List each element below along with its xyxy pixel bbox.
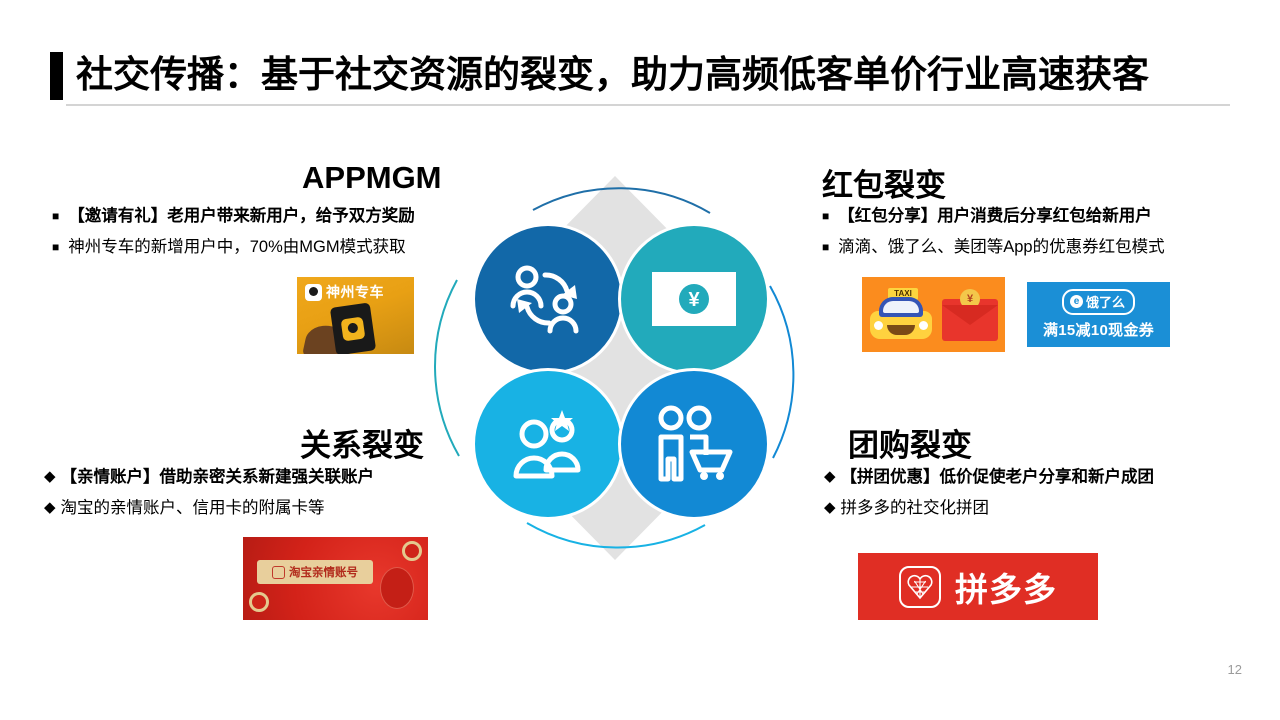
svg-text:¥: ¥: [688, 289, 700, 311]
eleme-logo: e 饿了么: [1062, 289, 1135, 315]
taobao-mark-icon: [272, 566, 285, 579]
list-item: ■ 【邀请有礼】老用户带来新用户，给予双方奖励: [52, 205, 415, 227]
bullet-text: 淘宝的亲情账户、信用卡的附属卡等: [61, 497, 325, 519]
eleme-mark-icon: e: [1070, 295, 1083, 308]
bullet-text: 【拼团优惠】低价促使老户分享和新户成团: [841, 466, 1155, 488]
diamond-bullet-icon: ◆: [44, 497, 56, 519]
diagram-circle-groupbuy[interactable]: [618, 368, 770, 520]
slide-canvas: 社交传播：基于社交资源的裂变，助力高频低客单价行业高速获客 APPMGM ■ 【…: [0, 0, 1280, 720]
square-bullet-icon: ■: [822, 236, 829, 258]
slide-title-block: 社交传播：基于社交资源的裂变，助力高频低客单价行业高速获客: [50, 50, 1230, 108]
bullet-text: 【亲情账户】借助亲密关系新建强关联账户: [61, 466, 375, 488]
taobao-plaque: 淘宝亲情账号: [257, 560, 373, 584]
pinduoduo-mark-icon: [899, 566, 941, 608]
taxi-headlight-right: [919, 321, 928, 330]
bullet-text: 【邀请有礼】老用户带来新用户，给予双方奖励: [68, 205, 415, 227]
quadrant-heading-tuangou: 团购裂变: [848, 420, 972, 465]
taxi-headlight-left: [874, 321, 883, 330]
diagram-background: [415, 168, 815, 568]
ucar-mark-icon: [305, 284, 322, 301]
diamond-bullet-icon: ◆: [44, 466, 56, 488]
bullet-text: 拼多多的社交化拼团: [841, 497, 990, 519]
envelope-flap: [942, 305, 998, 325]
arc-right: [770, 286, 793, 458]
diagram-circle-relation[interactable]: [472, 368, 624, 520]
four-circle-diagram: ¥: [415, 168, 815, 568]
lantern-icon: [380, 567, 414, 609]
decorative-coin-icon: [402, 541, 422, 561]
square-bullet-icon: ■: [822, 205, 829, 227]
bullet-text: 【红包分享】用户消费后分享红包给新用户: [838, 205, 1152, 227]
quadrant-bullets-appmgm: ■ 【邀请有礼】老用户带来新用户，给予双方奖励 ■ 神州专车的新增用户中，70%…: [52, 205, 415, 267]
quadrant-bullets-guanxi: ◆ 【亲情账户】借助亲密关系新建强关联账户 ◆ 淘宝的亲情账户、信用卡的附属卡等: [44, 466, 374, 528]
page-number: 12: [1228, 662, 1242, 677]
quadrant-heading-hongbao: 红包裂变: [822, 160, 946, 205]
decorative-coin-icon: [249, 592, 269, 612]
quadrant-heading-guanxi: 关系裂变: [300, 420, 424, 465]
page-title: 社交传播：基于社交资源的裂变，助力高频低客单价行业高速获客: [76, 49, 1149, 101]
diagram-circle-redpacket[interactable]: ¥: [618, 223, 770, 375]
thumbnail-eleme-coupon: e 饿了么 满15减10现金券: [1027, 282, 1170, 347]
arc-left: [435, 280, 459, 456]
thumbnail-ucar: 神州专车: [297, 277, 414, 354]
list-item: ◆ 拼多多的社交化拼团: [824, 497, 1154, 519]
person-shopping-cart-icon: [654, 405, 734, 483]
taobao-brand-label: 淘宝亲情账号: [289, 564, 358, 580]
pinduoduo-heart-icon: [907, 574, 933, 600]
list-item: ■ 【红包分享】用户消费后分享红包给新用户: [822, 205, 1165, 227]
ucar-app-icon: [341, 317, 366, 342]
people-refresh-icon: [505, 259, 591, 339]
bullet-text: 滴滴、饿了么、美团等App的优惠券红包模式: [838, 236, 1164, 258]
list-item: ◆ 【亲情账户】借助亲密关系新建强关联账户: [44, 466, 374, 488]
list-item: ■ 神州专车的新增用户中，70%由MGM模式获取: [52, 236, 415, 258]
pinduoduo-brand-label: 拼多多: [955, 563, 1057, 611]
thumbnail-taobao-family-account: 淘宝亲情账号: [243, 537, 428, 620]
diamond-bullet-icon: ◆: [824, 466, 836, 488]
list-item: ◆ 【拼团优惠】低价促使老户分享和新户成团: [824, 466, 1154, 488]
list-item: ◆ 淘宝的亲情账户、信用卡的附属卡等: [44, 497, 374, 519]
thumbnail-pinduoduo: 拼多多: [858, 553, 1098, 620]
phone-shape: [330, 302, 376, 354]
eleme-brand-label: 饿了么: [1086, 292, 1125, 311]
square-bullet-icon: ■: [52, 236, 59, 258]
square-bullet-icon: ■: [52, 205, 59, 227]
bullet-text: 神州专车的新增用户中，70%由MGM模式获取: [68, 236, 405, 258]
ucar-brand-label: 神州专车: [326, 282, 384, 302]
title-accent-bar: [50, 52, 63, 100]
thumbnail-taxi-redpacket: TAXI ¥: [862, 277, 1005, 352]
taxi-window: [883, 301, 919, 313]
quadrant-bullets-tuangou: ◆ 【拼团优惠】低价促使老户分享和新户成团 ◆ 拼多多的社交化拼团: [824, 466, 1154, 528]
diamond-bullet-icon: ◆: [824, 497, 836, 519]
red-envelope-illustration: ¥: [942, 299, 998, 341]
title-divider: [66, 104, 1230, 106]
list-item: ■ 滴滴、饿了么、美团等App的优惠券红包模式: [822, 236, 1165, 258]
yen-banknote-icon: ¥: [650, 270, 738, 328]
ucar-logo: 神州专车: [305, 282, 384, 302]
diagram-circle-mgm[interactable]: [472, 223, 624, 375]
quadrant-bullets-hongbao: ■ 【红包分享】用户消费后分享红包给新用户 ■ 滴滴、饿了么、美团等App的优惠…: [822, 205, 1165, 267]
taxi-car-illustration: TAXI: [870, 297, 932, 339]
people-star-icon: [506, 408, 590, 480]
eleme-offer-label: 满15减10现金券: [1043, 319, 1154, 340]
